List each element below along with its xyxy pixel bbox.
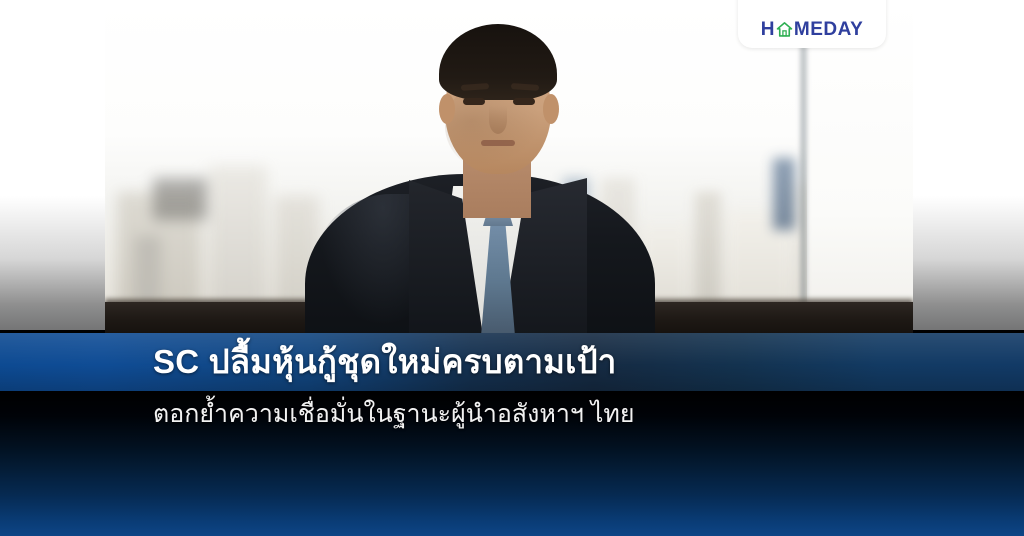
nose — [489, 106, 507, 134]
logo-text-after: MEDAY — [794, 20, 863, 39]
portrait-subject — [305, 18, 655, 336]
hero-photo — [105, 0, 913, 336]
eye-right — [513, 98, 535, 105]
skyline-right-tower — [773, 158, 795, 230]
headline-text: SC ปลื้มหุ้นกู้ชุดใหม่ครบตามเป้า — [153, 336, 853, 388]
homeday-wordmark: H MEDAY — [761, 20, 864, 39]
ear-right — [543, 94, 559, 124]
ear-left — [439, 94, 455, 124]
subheadline-text: ตอกย้ำความเชื่อมั่นในฐานะผู้นำอสังหาฯ ไท… — [153, 396, 913, 432]
skyline-left-dark-block — [153, 178, 207, 220]
logo-text-before: H — [761, 20, 775, 39]
hair — [439, 24, 557, 100]
house-icon — [776, 21, 793, 38]
homeday-logo-card[interactable]: H MEDAY — [738, 0, 886, 48]
skyline-right-building-4 — [695, 192, 721, 310]
eye-left — [463, 98, 485, 105]
news-banner: SC ปลื้มหุ้นกู้ชุดใหม่ครบตามเป้า ตอกย้ำค… — [0, 0, 1024, 536]
mouth — [481, 140, 515, 146]
